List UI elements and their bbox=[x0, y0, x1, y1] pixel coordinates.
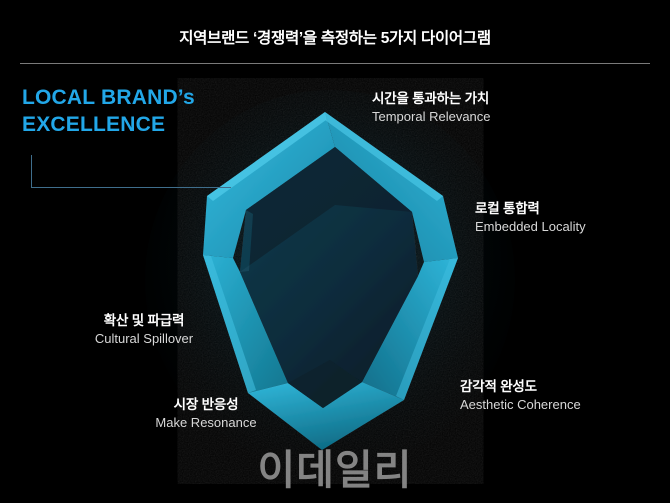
callout-embedded-locality: 로컬 통합력 Embedded Locality bbox=[475, 200, 586, 236]
callout-resonance-en: Make Resonance bbox=[118, 414, 294, 432]
callout-embedded-en: Embedded Locality bbox=[475, 218, 586, 236]
brand-line-1: LOCAL BRAND’s bbox=[22, 84, 292, 111]
callout-aesthetic-coherence: 감각적 완성도 Aesthetic Coherence bbox=[460, 378, 581, 414]
brand-heading: LOCAL BRAND’s EXCELLENCE bbox=[22, 84, 292, 139]
callout-spillover-ko: 확산 및 파급력 bbox=[58, 312, 230, 330]
callout-temporal-relevance: 시간을 통과하는 가치 Temporal Relevance bbox=[372, 90, 491, 126]
callout-aesthetic-en: Aesthetic Coherence bbox=[460, 396, 581, 414]
callout-temporal-en: Temporal Relevance bbox=[372, 108, 491, 126]
callout-make-resonance: 시장 반응성 Make Resonance bbox=[118, 396, 294, 432]
callout-aesthetic-ko: 감각적 완성도 bbox=[460, 378, 581, 396]
callout-temporal-ko: 시간을 통과하는 가치 bbox=[372, 90, 491, 108]
callout-spillover-en: Cultural Spillover bbox=[58, 330, 230, 348]
slide-canvas: 지역브랜드 ‘경쟁력’을 측정하는 5가지 다이어그램 bbox=[0, 0, 670, 503]
brand-line-2: EXCELLENCE bbox=[22, 111, 292, 138]
pentagon-diagram bbox=[0, 0, 670, 503]
callout-cultural-spillover: 확산 및 파급력 Cultural Spillover bbox=[58, 312, 230, 348]
callout-embedded-ko: 로컬 통합력 bbox=[475, 200, 586, 218]
callout-resonance-ko: 시장 반응성 bbox=[118, 396, 294, 414]
watermark-logo: 이데일리 bbox=[0, 436, 670, 496]
brand-bracket-rule bbox=[31, 155, 231, 188]
